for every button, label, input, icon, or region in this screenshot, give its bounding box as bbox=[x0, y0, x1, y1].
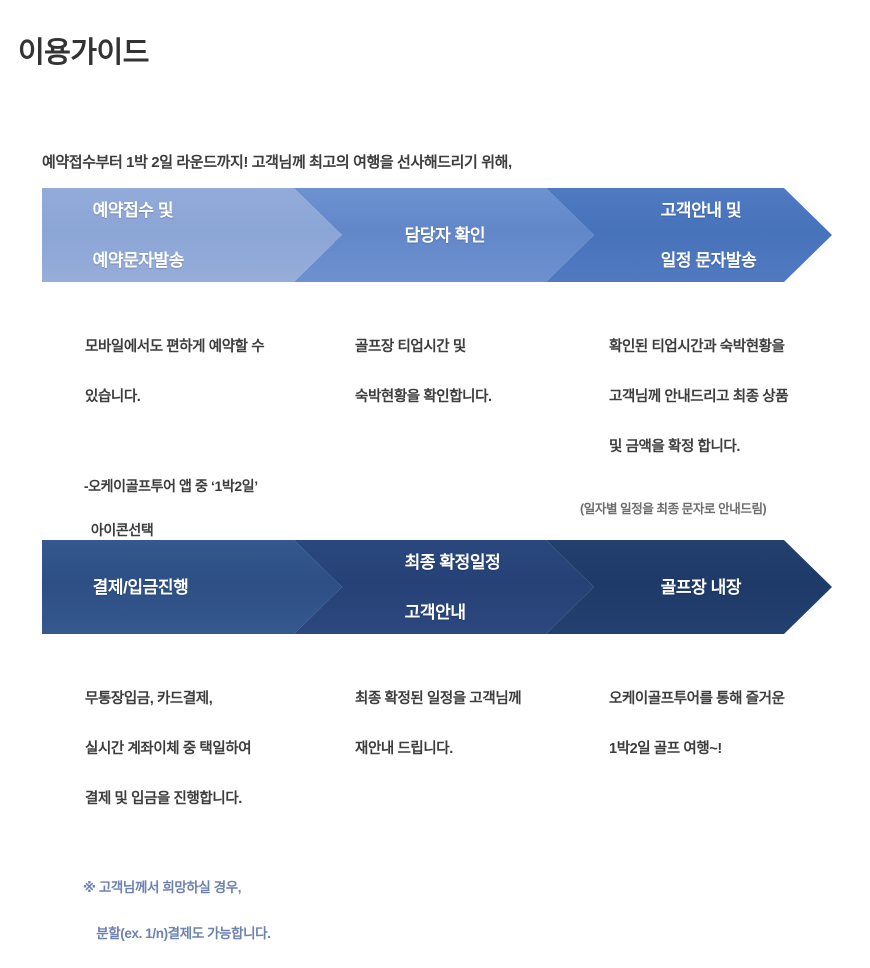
description-step-4-starnote: ※ 고객님께서 희망하실 경우, 분할(ex. 1/n)결제도 가능합니다. bbox=[56, 853, 324, 968]
description-step-5-line-1: 최종 확정된 일정을 고객님께 bbox=[355, 691, 521, 707]
chevron-step-3-line-1: 고객안내 및 bbox=[661, 201, 742, 220]
description-step-2-line-1: 골프장 티업시간 및 bbox=[355, 339, 466, 355]
description-column-step-3: 확인된 티업시간과 숙박현황을 고객님께 안내드리고 최종 상품 및 금액을 확… bbox=[580, 310, 842, 519]
chevron-step-1-line-1: 예약접수 및 bbox=[93, 201, 174, 220]
chevron-banner-strip-1: 예약접수 및 예약문자발송 담당자 확인 고객안내 및 일정 문자발송 bbox=[42, 188, 832, 282]
description-column-step-1: 모바일에서도 편하게 예약할 수 있습니다. -오케이골프투어 앱 중 ‘1박2… bbox=[56, 310, 324, 563]
chevron-step-4-line-1: 결제/입금진행 bbox=[93, 578, 189, 597]
description-step-4-body: 무통장입금, 카드결제, 실시간 계좌이체 중 택일하여 결제 및 입금을 진행… bbox=[56, 662, 324, 837]
description-step-3-line-2: 고객님께 안내드리고 최종 상품 bbox=[609, 389, 788, 405]
chevron-step-6-line-1: 골프장 내장 bbox=[661, 578, 742, 597]
description-step-1-note-line-2: 아이콘선택 bbox=[84, 522, 153, 538]
process-flow-row-2: 결제/입금진행 최종 확정일정 고객안내 골프장 내장 무통장입금, 카드결제,… bbox=[42, 540, 832, 662]
intro-line-1: 예약접수부터 1박 2일 라운드까지! 고객님께 최고의 여행을 선사해드리기 … bbox=[42, 150, 512, 176]
description-step-3-line-3: 및 금액을 확정 합니다. bbox=[609, 439, 740, 455]
description-column-step-5: 최종 확정된 일정을 고객님께 재안내 드립니다. bbox=[326, 662, 594, 787]
chevron-banner-strip-2: 결제/입금진행 최종 확정일정 고객안내 골프장 내장 bbox=[42, 540, 832, 634]
chevron-step-1[interactable]: 예약접수 및 예약문자발송 bbox=[42, 188, 342, 282]
chevron-step-5-line-1: 최종 확정일정 bbox=[405, 553, 501, 572]
process-flow-row-1: 예약접수 및 예약문자발송 담당자 확인 고객안내 및 일정 문자발송 모바일에… bbox=[42, 188, 832, 310]
description-step-6-line-2: 1박2일 골프 여행~! bbox=[609, 741, 722, 757]
description-step-4-starnote-line-1: ※ 고객님께서 희망하실 경우, bbox=[83, 880, 241, 895]
description-step-1-line-1: 모바일에서도 편하게 예약할 수 bbox=[85, 339, 264, 355]
description-step-4-line-3: 결제 및 입금을 진행합니다. bbox=[85, 791, 242, 807]
chevron-step-2-line-1: 담당자 확인 bbox=[405, 226, 486, 245]
description-column-step-6: 오케이골프투어를 통해 즐거운 1박2일 골프 여행~! bbox=[580, 662, 842, 787]
description-step-2-line-2: 숙박현황을 확인합니다. bbox=[355, 389, 492, 405]
description-step-6-line-1: 오케이골프투어를 통해 즐거운 bbox=[609, 691, 784, 707]
description-step-5-line-2: 재안내 드립니다. bbox=[355, 741, 453, 757]
description-step-6-body: 오케이골프투어를 통해 즐거운 1박2일 골프 여행~! bbox=[580, 662, 842, 787]
chevron-step-1-line-2: 예약문자발송 bbox=[93, 251, 184, 270]
description-column-step-4: 무통장입금, 카드결제, 실시간 계좌이체 중 택일하여 결제 및 입금을 진행… bbox=[56, 662, 324, 968]
description-step-5-body: 최종 확정된 일정을 고객님께 재안내 드립니다. bbox=[326, 662, 594, 787]
description-step-4-line-2: 실시간 계좌이체 중 택일하여 bbox=[85, 741, 251, 757]
description-step-4-starnote-line-2: 분할(ex. 1/n)결제도 가능합니다. bbox=[83, 926, 271, 941]
description-step-3-subnote: (일자별 일정을 최종 문자로 안내드림) bbox=[580, 499, 842, 519]
description-step-3-body: 확인된 티업시간과 숙박현황을 고객님께 안내드리고 최종 상품 및 금액을 확… bbox=[580, 310, 842, 485]
page-title: 이용가이드 bbox=[18, 29, 149, 71]
chevron-step-3-line-2: 일정 문자발송 bbox=[661, 251, 757, 270]
description-step-1-body: 모바일에서도 편하게 예약할 수 있습니다. bbox=[56, 310, 324, 435]
description-step-1-note-line-1: -오케이골프투어 앱 중 ‘1박2일’ bbox=[84, 478, 258, 494]
description-step-2-body: 골프장 티업시간 및 숙박현황을 확인합니다. bbox=[326, 310, 594, 435]
description-step-4-line-1: 무통장입금, 카드결제, bbox=[85, 691, 212, 707]
description-step-1-line-2: 있습니다. bbox=[85, 389, 140, 405]
chevron-step-4[interactable]: 결제/입금진행 bbox=[42, 540, 342, 634]
description-step-3-line-1: 확인된 티업시간과 숙박현황을 bbox=[609, 339, 784, 355]
description-column-step-2: 골프장 티업시간 및 숙박현황을 확인합니다. bbox=[326, 310, 594, 435]
chevron-step-5-line-2: 고객안내 bbox=[405, 603, 466, 622]
chevron-step-4-label: 결제/입금진행 bbox=[42, 550, 188, 625]
chevron-step-1-label: 예약접수 및 예약문자발송 bbox=[42, 173, 184, 298]
